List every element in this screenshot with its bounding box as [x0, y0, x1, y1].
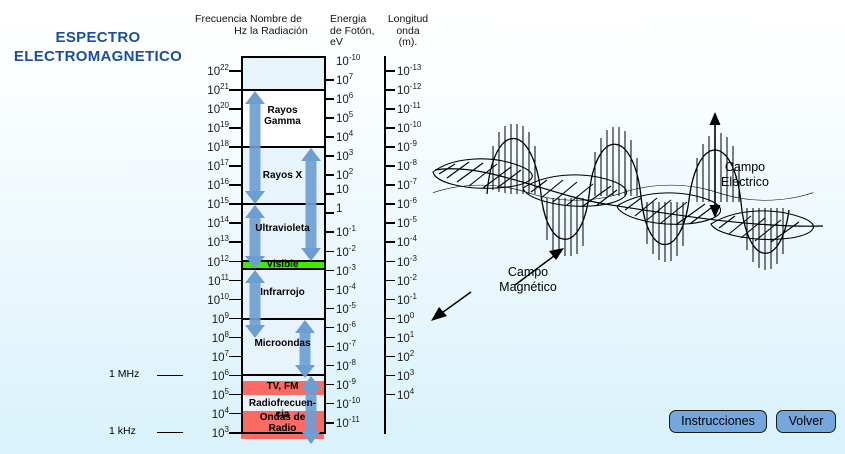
back-button[interactable]: Volver	[776, 410, 836, 433]
frequency-tick-label: 107	[187, 348, 229, 364]
band-label-tv-fm: TV, FM	[241, 382, 324, 393]
energy-tick	[324, 308, 334, 310]
wavelength-tick-label: 10-8	[397, 157, 417, 173]
wavelength-tick	[384, 222, 395, 224]
frequency-tick-label: 1013	[187, 233, 229, 249]
band-label-line2: Gamma	[241, 117, 324, 128]
band-top-strip	[241, 56, 324, 89]
wavelength-tick-label: 103	[397, 367, 414, 383]
frequency-tick-label: 1017	[187, 157, 229, 173]
chart-vline-mid	[324, 56, 326, 434]
energy-tick	[324, 98, 334, 100]
frequency-tick-label: 1015	[187, 195, 229, 211]
energy-tick-label: 10-7	[336, 338, 356, 354]
wavelength-tick-label: 10-10	[397, 119, 421, 135]
column-header-photon-energy: Energia de Fotón, eV	[330, 14, 378, 49]
wavelength-tick-label: 10-4	[397, 233, 417, 249]
band-label-line2: cia	[241, 410, 324, 421]
wavelength-tick	[384, 337, 395, 339]
band-label-rayos-gamma: RayosGamma	[241, 106, 324, 127]
frequency-tick	[229, 432, 241, 434]
band-label: TV, FM	[241, 382, 324, 393]
frequency-tick	[229, 165, 241, 167]
column-header-energy-l3: eV	[330, 37, 378, 49]
energy-tick	[324, 365, 334, 367]
energy-tick-label: 10-9	[336, 376, 356, 392]
energy-tick	[324, 155, 334, 157]
energy-tick-label: 102	[336, 166, 353, 182]
frequency-side-connector	[157, 375, 183, 376]
frequency-tick	[229, 222, 241, 224]
band-label: Infrarrojo	[241, 288, 324, 299]
wavelength-tick	[384, 261, 395, 263]
column-header-name-l2: la Radiación	[250, 26, 324, 38]
wavelength-tick-label: 100	[397, 310, 414, 326]
energy-tick	[324, 193, 334, 195]
band-label-infrarrojo: Infrarrojo	[241, 288, 324, 299]
frequency-side-label: 1 kHz	[109, 425, 136, 437]
instructions-button[interactable]: Instrucciones	[669, 410, 767, 433]
frequency-tick	[229, 280, 241, 282]
energy-tick-label: 10-3	[336, 262, 356, 278]
wavelength-tick-label: 10-7	[397, 176, 417, 192]
frequency-tick-label: 104	[187, 405, 229, 421]
energy-tick	[324, 117, 334, 119]
spectrum-page: ESPECTRO ELECTROMAGNETICO Frecuencia Hz …	[0, 0, 845, 454]
energy-tick-label: 10	[336, 185, 349, 196]
energy-tick-label: 105	[336, 109, 353, 125]
frequency-side-connector	[157, 432, 183, 433]
wavelength-tick	[384, 203, 395, 205]
arrow-rayos-x	[300, 148, 322, 261]
chart-vline-right	[384, 56, 386, 434]
energy-tick	[324, 136, 334, 138]
energy-tick	[324, 212, 334, 214]
wavelength-tick-label: 10-5	[397, 214, 417, 230]
energy-tick	[324, 327, 334, 329]
frequency-tick-label: 1014	[187, 214, 229, 230]
frequency-side-label: 1 MHz	[109, 368, 139, 380]
energy-tick-label: 10-10	[336, 52, 360, 68]
frequency-tick	[229, 70, 241, 72]
energy-tick	[324, 270, 334, 272]
wavelength-tick-label: 10-3	[397, 253, 417, 269]
magnetic-field-label-l2: Magnético	[478, 280, 578, 295]
band-label: Microondas	[241, 339, 324, 350]
column-header-frequency-l1: Frecuencia	[181, 14, 247, 26]
wavelength-tick	[384, 356, 395, 358]
frequency-tick-label: 1020	[187, 100, 229, 116]
energy-tick-label: 10-6	[336, 319, 356, 335]
energy-tick	[324, 384, 334, 386]
energy-tick-label: 107	[336, 71, 353, 87]
band-label-microondas: Microondas	[241, 339, 324, 350]
electric-field-label-l2: Eléctrico	[690, 175, 800, 190]
magnetic-field-label-l1: Campo	[478, 265, 578, 280]
band-label-radiofrecuencia: Radiofrecuen-cia	[241, 399, 324, 420]
energy-tick-label: 10-4	[336, 281, 356, 297]
frequency-tick	[229, 203, 241, 205]
frequency-tick	[229, 241, 241, 243]
band-label-ultravioleta: Ultravioleta	[241, 224, 324, 235]
frequency-tick	[229, 299, 241, 301]
frequency-tick	[229, 318, 241, 320]
frequency-tick	[229, 261, 241, 263]
column-header-wave-l3: (m).	[380, 37, 436, 49]
energy-tick	[324, 174, 334, 176]
wavelength-tick	[384, 394, 395, 396]
electric-field-label: Campo Eléctrico	[690, 160, 800, 190]
frequency-tick	[229, 108, 241, 110]
column-header-wave-l1: Longitud	[380, 14, 436, 26]
em-wave-svg	[425, 110, 845, 330]
wavelength-tick-label: 102	[397, 348, 414, 364]
wavelength-tick-label: 10-1	[397, 291, 417, 307]
frequency-tick	[229, 413, 241, 415]
wavelength-tick	[384, 241, 395, 243]
frequency-tick	[229, 394, 241, 396]
wavelength-tick	[384, 146, 395, 148]
arrow-infrarrojo	[244, 270, 266, 338]
column-header-energy-l1: Energia	[330, 14, 378, 26]
wavelength-tick	[384, 108, 395, 110]
frequency-tick-label: 1016	[187, 176, 229, 192]
energy-tick	[324, 289, 334, 291]
wavelength-tick	[384, 280, 395, 282]
band-label-visible: Visible	[241, 260, 324, 271]
energy-tick	[324, 422, 334, 424]
band-label: Ultravioleta	[241, 224, 324, 235]
frequency-tick	[229, 337, 241, 339]
wavelength-tick	[384, 375, 395, 377]
energy-tick	[324, 346, 334, 348]
frequency-tick-label: 1019	[187, 119, 229, 135]
wavelength-tick	[384, 299, 395, 301]
energy-tick	[324, 79, 334, 81]
frequency-tick-label: 108	[187, 329, 229, 345]
column-header-radiation-name: Nombre de la Radiación	[250, 14, 324, 37]
frequency-tick	[229, 89, 241, 91]
page-title-line1: ESPECTRO	[8, 28, 188, 47]
column-header-name-l1: Nombre de	[250, 14, 324, 26]
energy-tick-label: 10-5	[336, 300, 356, 316]
energy-tick-label: 1	[336, 204, 342, 215]
frequency-tick	[229, 356, 241, 358]
energy-tick	[324, 231, 334, 233]
energy-tick-label: 10-10	[336, 395, 360, 411]
wavelength-tick	[384, 318, 395, 320]
frequency-tick	[229, 184, 241, 186]
column-header-wavelength: Longitud onda (m).	[380, 14, 436, 49]
frequency-tick-label: 103	[187, 424, 229, 440]
wavelength-tick-label: 10-11	[397, 100, 421, 116]
band-label-rayos-x: Rayos X	[241, 171, 324, 182]
magnetic-field-label: Campo Magnético	[478, 265, 578, 295]
band-label: Radiofrecuen-	[241, 399, 324, 410]
wavelength-tick-label: 10-2	[397, 272, 417, 288]
frequency-tick-label: 1021	[187, 81, 229, 97]
wavelength-tick	[384, 184, 395, 186]
wavelength-tick-label: 10-6	[397, 195, 417, 211]
frequency-tick-label: 1012	[187, 253, 229, 269]
frequency-tick-label: 1010	[187, 291, 229, 307]
wavelength-tick-label: 10-12	[397, 81, 421, 97]
energy-tick-label: 10-1	[336, 223, 356, 239]
energy-tick	[324, 251, 334, 253]
frequency-tick-label: 109	[187, 310, 229, 326]
energy-tick-label: 10-11	[336, 414, 360, 430]
energy-tick	[324, 403, 334, 405]
column-header-frequency-l2: Hz	[181, 26, 247, 38]
energy-tick-label: 10-2	[336, 243, 356, 259]
band-label-line2: Radio	[241, 424, 324, 435]
wavelength-tick-label: 104	[397, 386, 414, 402]
frequency-tick	[229, 375, 241, 377]
spectrum-chart: RayosGammaRayos XUltravioletaVisibleInfr…	[181, 56, 441, 434]
wavelength-tick	[384, 127, 395, 129]
wavelength-tick-label: 10-9	[397, 138, 417, 154]
em-wave-illustration	[425, 110, 845, 330]
band-label: Visible	[241, 260, 324, 271]
frequency-tick-label: 1022	[187, 62, 229, 78]
frequency-tick-label: 106	[187, 367, 229, 383]
page-title-line2: ELECTROMAGNETICO	[8, 47, 188, 66]
energy-tick-label: 106	[336, 90, 353, 106]
wavelength-tick	[384, 70, 395, 72]
page-title: ESPECTRO ELECTROMAGNETICO	[8, 28, 188, 66]
band-separator	[241, 56, 324, 58]
band-label: Rayos X	[241, 171, 324, 182]
frequency-tick-label: 1018	[187, 138, 229, 154]
energy-tick-label: 10-8	[336, 357, 356, 373]
wavelength-tick-label: 10-13	[397, 62, 421, 78]
frequency-tick	[229, 127, 241, 129]
frequency-tick	[229, 146, 241, 148]
energy-tick-label: 103	[336, 147, 353, 163]
band-label: Rayos	[241, 106, 324, 117]
energy-tick-label: 104	[336, 128, 353, 144]
wavelength-tick-label: 101	[397, 329, 414, 345]
frequency-tick-label: 105	[187, 386, 229, 402]
column-header-frequency: Frecuencia Hz	[181, 14, 247, 37]
wavelength-tick	[384, 165, 395, 167]
electric-field-label-l1: Campo	[690, 160, 800, 175]
wavelength-tick	[384, 89, 395, 91]
frequency-tick-label: 1011	[187, 272, 229, 288]
